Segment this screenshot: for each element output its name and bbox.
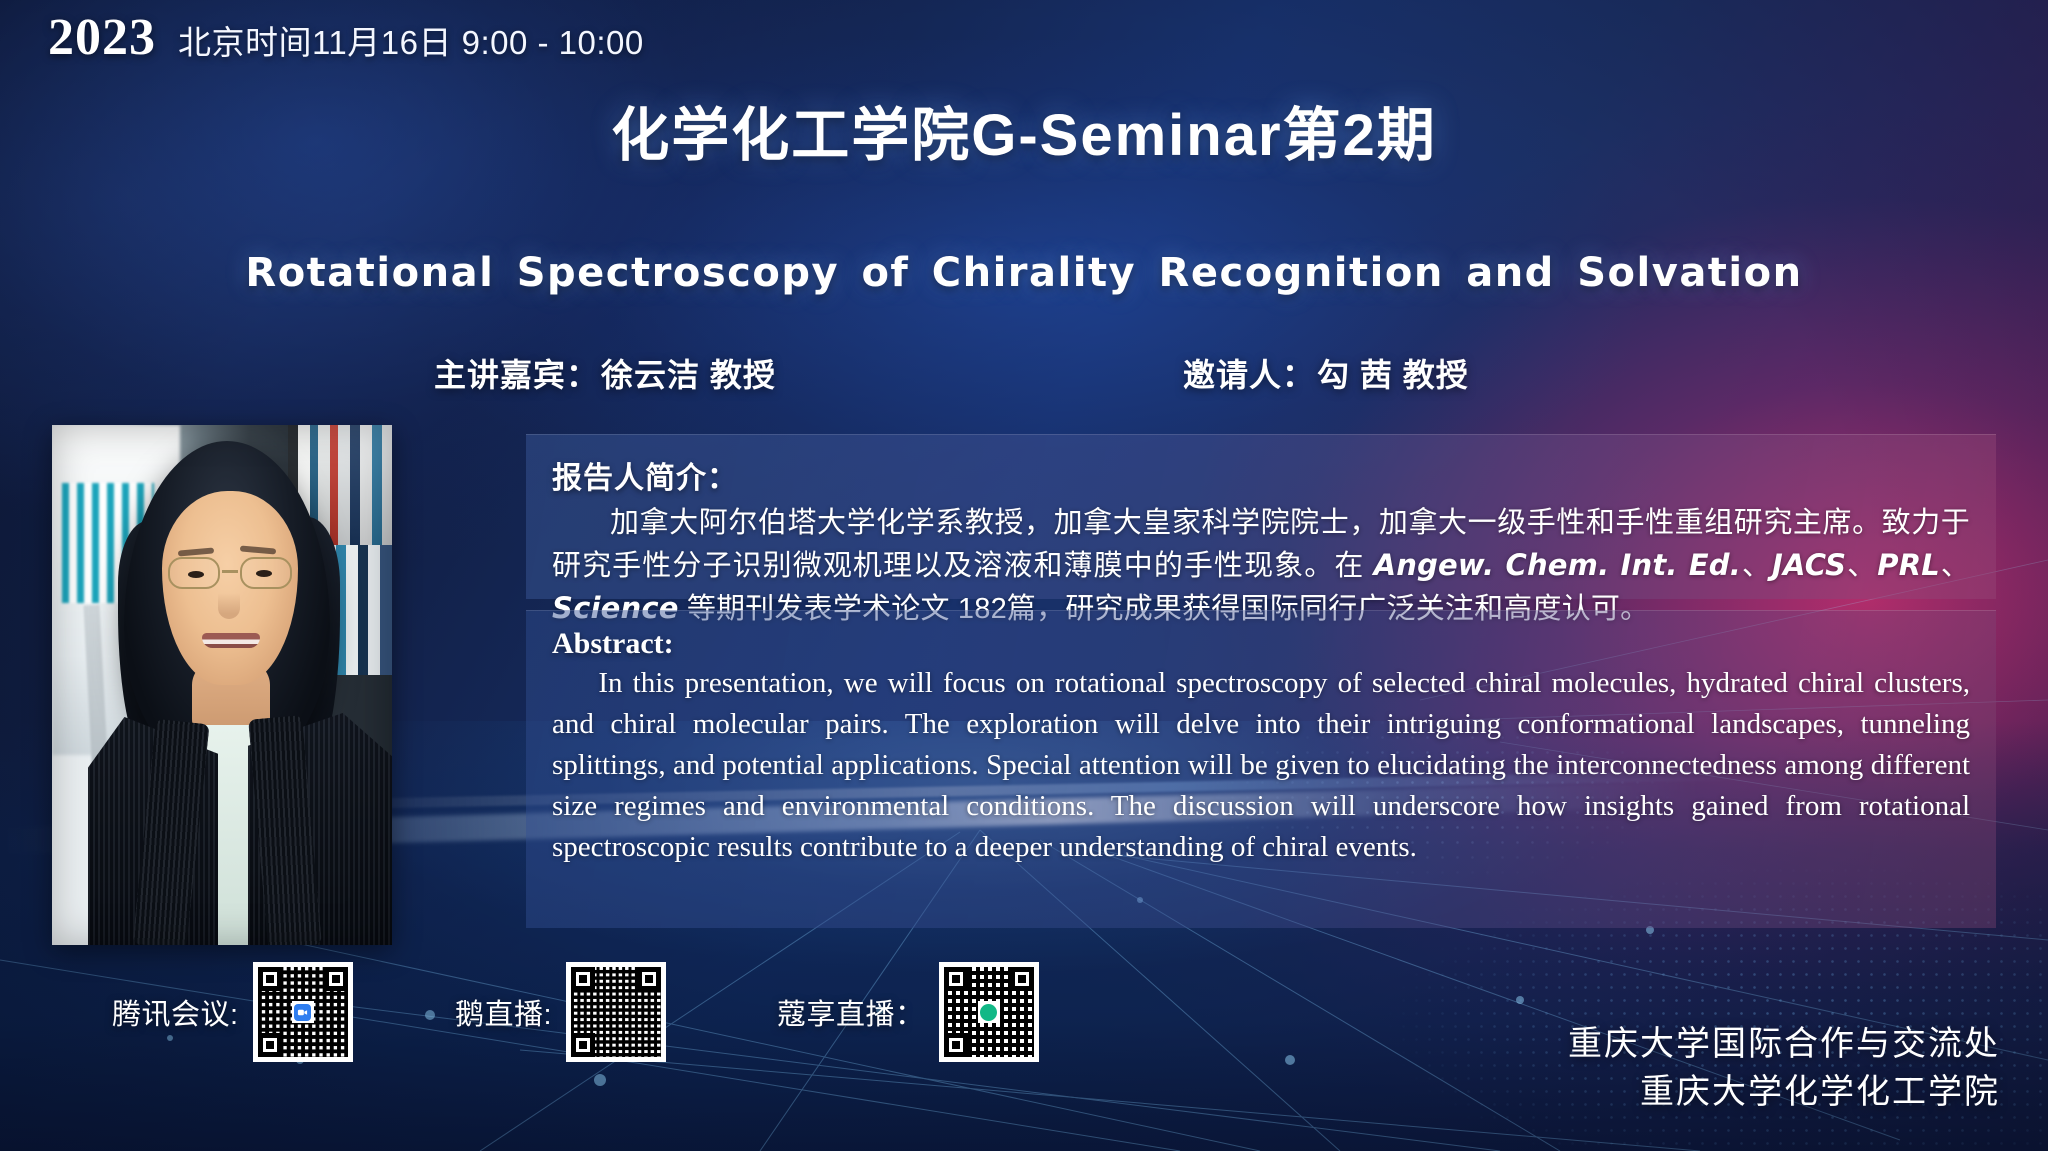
qr-item-e-live[interactable]: 鹅直播: — [455, 962, 666, 1062]
datetime-label: 北京时间11月16日 9:00 - 10:00 — [178, 16, 644, 64]
qr-matrix — [571, 967, 661, 1057]
qr-label-koushare: 蔻享直播： — [777, 991, 925, 1033]
page-title-cn: 化学化工学院G-Seminar第2期 — [0, 88, 2048, 172]
qr-finder-top-left — [944, 967, 968, 991]
koushare-icon — [978, 1001, 1000, 1023]
portrait-shading — [52, 425, 392, 945]
organizers: 重庆大学国际合作与交流处 重庆大学化学化工学院 — [1568, 1020, 2000, 1117]
qr-code-koushare[interactable] — [939, 962, 1039, 1062]
speaker-bio-panel: 报告人简介： 加拿大阿尔伯塔大学化学系教授，加拿大皇家科学院院士，加拿大一级手性… — [526, 434, 1996, 599]
qr-code-e-live[interactable] — [566, 962, 666, 1062]
qr-finder-top-right — [324, 967, 348, 991]
koushare-badge — [980, 1004, 997, 1021]
qr-finder-bottom-left — [944, 1033, 968, 1057]
video-camera-icon — [297, 1007, 308, 1018]
tencent-meeting-icon — [292, 1001, 314, 1023]
qr-finder-top-left — [258, 967, 282, 991]
qr-label-tencent-meeting: 腾讯会议: — [112, 991, 239, 1033]
poster-canvas: 2023 北京时间11月16日 9:00 - 10:00 化学化工学院G-Sem… — [0, 0, 2048, 1151]
abstract-body: In this presentation, we will focus on r… — [552, 663, 1970, 867]
abstract-panel: Abstract: In this presentation, we will … — [526, 610, 1996, 928]
qr-finder-top-right — [637, 967, 661, 991]
host-line: 邀请人：勾 茜 教授 — [1183, 350, 1469, 396]
journal-angew: Angew. Chem. Int. Ed. — [1374, 548, 1741, 582]
portrait-photo — [52, 425, 392, 945]
qr-label-e-live: 鹅直播: — [455, 991, 552, 1033]
speaker-name: 徐云洁 教授 — [601, 357, 776, 393]
journal-jacs: JACS — [1772, 548, 1846, 582]
page-title-en: Rotational Spectroscopy of Chirality Rec… — [0, 250, 2048, 296]
qr-item-tencent-meeting[interactable]: 腾讯会议: — [112, 962, 353, 1062]
organizer-line-1: 重庆大学国际合作与交流处 — [1568, 1020, 2000, 1068]
journal-prl: PRL — [1877, 548, 1940, 582]
qr-finder-top-left — [571, 967, 595, 991]
tencent-meeting-badge — [294, 1004, 311, 1021]
qr-matrix — [258, 967, 348, 1057]
organizer-line-2: 重庆大学化学化工学院 — [1568, 1068, 2000, 1116]
bio-heading: 报告人简介： — [552, 453, 1970, 497]
abstract-heading: Abstract: — [552, 627, 1970, 661]
qr-finder-top-right — [1010, 967, 1034, 991]
speaker-portrait — [52, 425, 392, 945]
year-label: 2023 — [48, 12, 156, 64]
qr-finder-bottom-left — [571, 1033, 595, 1057]
speaker-line: 主讲嘉宾：徐云洁 教授 — [434, 350, 776, 396]
host-label: 邀请人： — [1183, 357, 1315, 393]
qr-matrix — [944, 967, 1034, 1057]
bio-sep-3: 、 — [1940, 550, 1970, 582]
host-name: 勾 茜 教授 — [1317, 357, 1469, 393]
qr-item-koushare[interactable]: 蔻享直播： — [777, 962, 1039, 1062]
bio-sep-1: 、 — [1741, 550, 1772, 582]
bio-sep-2: 、 — [1846, 550, 1877, 582]
qr-finder-bottom-left — [258, 1033, 282, 1057]
speaker-label: 主讲嘉宾： — [434, 357, 599, 393]
header: 2023 北京时间11月16日 9:00 - 10:00 — [48, 12, 644, 64]
people-row: 主讲嘉宾：徐云洁 教授 邀请人：勾 茜 教授 — [0, 350, 2048, 400]
qr-code-tencent-meeting[interactable] — [253, 962, 353, 1062]
